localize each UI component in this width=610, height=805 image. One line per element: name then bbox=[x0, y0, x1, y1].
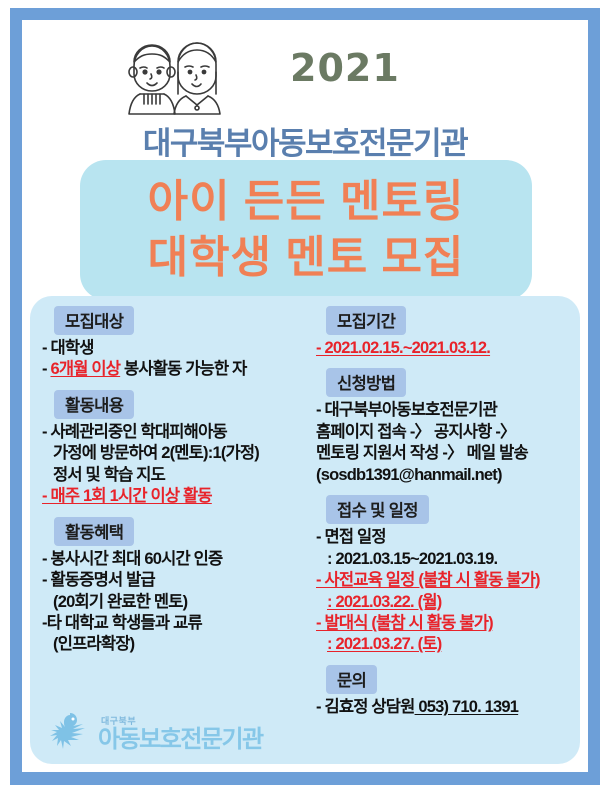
contact-person: - 김효정 상담원 bbox=[316, 698, 415, 716]
list-item: - 2021.02.15.~2021.03.12. bbox=[316, 338, 574, 359]
section-badge-recruit-period: 모집기간 bbox=[326, 306, 406, 335]
poster-header: 2021 대구북부아동보호전문기관 아이 든든 멘토링 대학생 멘토 모집 bbox=[22, 20, 588, 290]
list-item: (인프라확장) bbox=[42, 634, 310, 655]
list-item: - 김효정 상담원 053) 710. 1391 bbox=[316, 697, 574, 718]
contact-phone: 053) 710. 1391 bbox=[415, 698, 519, 716]
frame-border-right bbox=[588, 8, 600, 785]
section-badge-recruit-target: 모집대상 bbox=[54, 306, 134, 335]
main-title-box: 아이 든든 멘토링 대학생 멘토 모집 bbox=[80, 160, 532, 300]
email-address: (sosdb1391@hanmail.net) bbox=[316, 465, 574, 486]
section-body-application-method: - 대구북부아동보호전문기관 홈페이지 접속 -〉 공지사항 -〉 멘토링 지원… bbox=[316, 400, 574, 486]
organization-logo: 대구북부 아동보호전문기관 bbox=[48, 704, 288, 762]
list-item: 가정에 방문하여 2(멘토):1(가정) bbox=[42, 443, 310, 464]
section-body-schedule: - 면접 일정 : 2021.03.15~2021.03.19. - 사전교육 … bbox=[316, 527, 574, 656]
section-badge-activity-content: 활동내용 bbox=[54, 390, 134, 419]
highlight-text: - 매주 1회 1시간 이상 활동 bbox=[42, 487, 212, 505]
list-item: (20회기 완료한 멘토) bbox=[42, 592, 310, 613]
main-title-line-2: 대학생 멘토 모집 bbox=[148, 230, 465, 286]
frame-border-bottom bbox=[10, 772, 600, 785]
list-item: - 사전교육 일정 (불참 시 활동 불가) bbox=[316, 570, 574, 591]
section-body-inquiry: - 김효정 상담원 053) 710. 1391 bbox=[316, 697, 574, 718]
right-column: 모집기간 - 2021.02.15.~2021.03.12. 신청방법 - 대구… bbox=[312, 306, 574, 727]
highlight-text: - 사전교육 일정 (불참 시 활동 불가) bbox=[316, 571, 540, 589]
logo-subtext: 대구북부 bbox=[101, 714, 263, 727]
plain-text: 봉사활동 가능한 자 bbox=[120, 360, 246, 378]
left-column: 모집대상 - 대학생 - 6개월 이상 봉사활동 가능한 자 활동내용 - 사례… bbox=[38, 306, 310, 665]
section-badge-inquiry: 문의 bbox=[326, 665, 377, 694]
main-title-line-1: 아이 든든 멘토링 bbox=[148, 174, 465, 230]
list-item: : 2021.03.22. (월) bbox=[316, 592, 574, 613]
section-body-activity-benefits: - 봉사시간 최대 60시간 인증 - 활동증명서 발급 (20회기 완료한 멘… bbox=[42, 549, 310, 656]
section-body-recruit-period: - 2021.02.15.~2021.03.12. bbox=[316, 338, 574, 359]
list-item: - 매주 1회 1시간 이상 활동 bbox=[42, 486, 310, 507]
list-item: - 봉사시간 최대 60시간 인증 bbox=[42, 549, 310, 570]
year-label: 2021 bbox=[290, 46, 400, 90]
list-item: : 2021.03.27. (토) bbox=[316, 634, 574, 655]
list-item: 정서 및 학습 지도 bbox=[42, 465, 310, 486]
section-body-recruit-target: - 대학생 - 6개월 이상 봉사활동 가능한 자 bbox=[42, 338, 310, 381]
bird-logo-icon bbox=[48, 709, 94, 757]
list-item: 홈페이지 접속 -〉 공지사항 -〉 bbox=[316, 422, 574, 443]
highlight-text: 6개월 이상 bbox=[50, 360, 120, 378]
highlight-text: - 발대식 (불참 시 활동 불가) bbox=[316, 614, 493, 632]
logo-text-block: 대구북부 아동보호전문기관 bbox=[98, 714, 263, 752]
poster-root: 2021 대구북부아동보호전문기관 아이 든든 멘토링 대학생 멘토 모집 모집… bbox=[0, 0, 610, 805]
list-item: - 6개월 이상 봉사활동 가능한 자 bbox=[42, 359, 310, 380]
two-children-illustration-icon bbox=[120, 32, 240, 122]
section-badge-schedule: 접수 및 일정 bbox=[326, 495, 429, 524]
list-item: -타 대학교 학생들과 교류 bbox=[42, 613, 310, 634]
highlight-text: - 2021.02.15.~2021.03.12. bbox=[316, 339, 490, 357]
list-item: - 사례관리중인 학대피해아동 bbox=[42, 422, 310, 443]
frame-border-left bbox=[10, 8, 22, 785]
list-item: - 면접 일정 bbox=[316, 527, 574, 548]
logo-maintext: 아동보호전문기관 bbox=[98, 727, 263, 752]
list-item: 멘토링 지원서 작성 -〉 메일 발송 bbox=[316, 443, 574, 464]
highlight-text: : 2021.03.22. (월) bbox=[327, 593, 441, 611]
section-badge-application-method: 신청방법 bbox=[326, 368, 406, 397]
frame-border-top bbox=[10, 8, 600, 20]
list-item: - 대구북부아동보호전문기관 bbox=[316, 400, 574, 421]
organization-name: 대구북부아동보호전문기관 bbox=[22, 118, 588, 163]
section-body-activity-content: - 사례관리중인 학대피해아동 가정에 방문하여 2(멘토):1(가정) 정서 … bbox=[42, 422, 310, 508]
list-item: - 발대식 (불참 시 활동 불가) bbox=[316, 613, 574, 634]
list-item: - 활동증명서 발급 bbox=[42, 570, 310, 591]
section-badge-activity-benefits: 활동혜택 bbox=[54, 517, 134, 546]
list-item: - 대학생 bbox=[42, 338, 310, 359]
highlight-text: : 2021.03.27. (토) bbox=[327, 635, 441, 653]
content-panel: 모집대상 - 대학생 - 6개월 이상 봉사활동 가능한 자 활동내용 - 사례… bbox=[30, 296, 580, 764]
list-item: : 2021.03.15~2021.03.19. bbox=[316, 549, 574, 570]
